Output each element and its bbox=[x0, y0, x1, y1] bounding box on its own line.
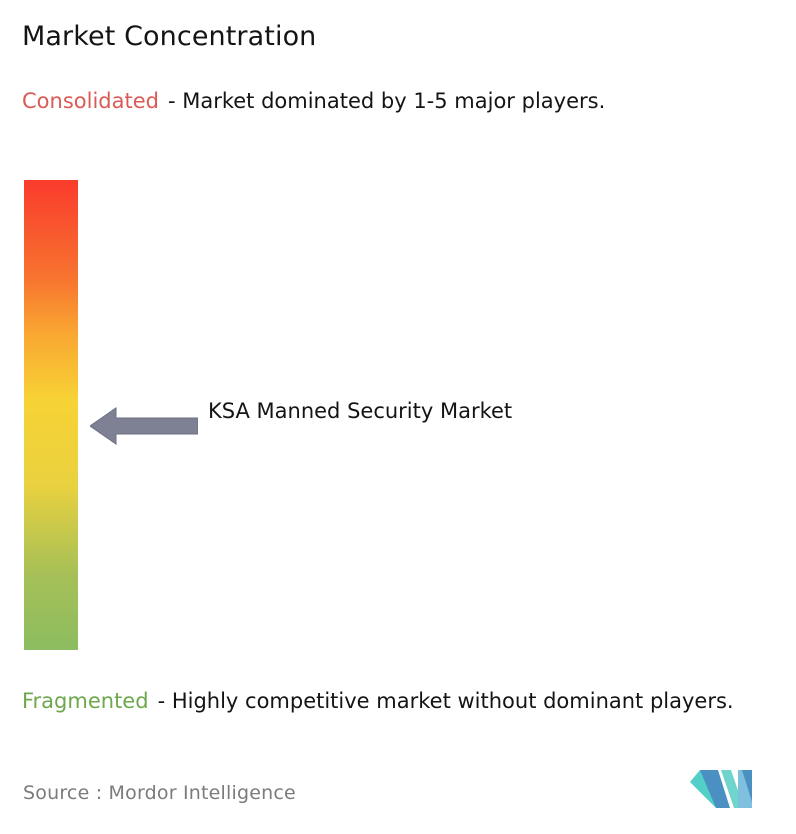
page-title: Market Concentration bbox=[22, 20, 316, 54]
mordor-intelligence-logo-icon bbox=[690, 768, 760, 812]
legend-consolidated: Consolidated- Market dominated by 1-5 ma… bbox=[22, 86, 778, 117]
legend-label-consolidated: Consolidated bbox=[22, 89, 159, 113]
source-attribution: Source : Mordor Intelligence bbox=[23, 782, 296, 804]
market-concentration-chart: Market Concentration Consolidated- Marke… bbox=[0, 0, 796, 834]
legend-label-fragmented: Fragmented bbox=[22, 689, 149, 713]
concentration-gradient-bar bbox=[24, 180, 78, 650]
annotation-label: KSA Manned Security Market bbox=[208, 394, 548, 429]
legend-description-consolidated: - Market dominated by 1-5 major players. bbox=[168, 89, 605, 113]
legend-fragmented: Fragmented- Highly competitive market wi… bbox=[22, 686, 790, 717]
legend-description-fragmented: - Highly competitive market without domi… bbox=[158, 689, 734, 713]
left-arrow-icon bbox=[90, 405, 198, 447]
annotation-arrow bbox=[90, 405, 198, 447]
brand-logo bbox=[690, 768, 760, 812]
